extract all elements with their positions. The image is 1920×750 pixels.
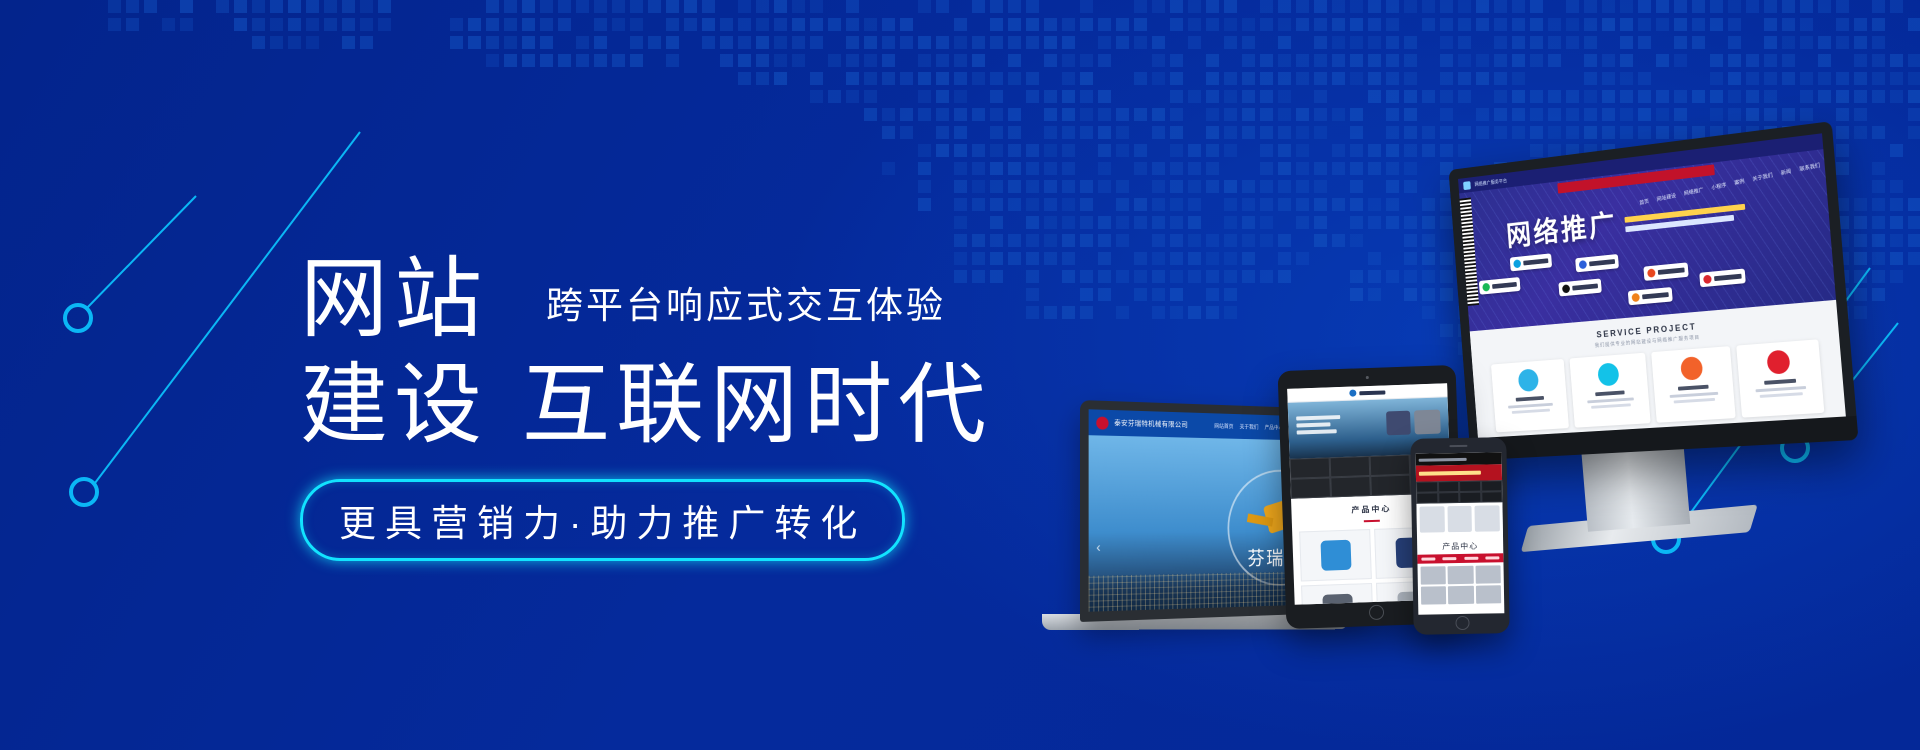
- partner-logo-icon: [1562, 284, 1570, 293]
- headline-main-2b: 互联网时代: [522, 355, 992, 454]
- service-card: [1651, 346, 1736, 423]
- phone-feature-row: [1416, 502, 1503, 535]
- monitor-nav-item: 首页: [1639, 197, 1650, 206]
- service-card-label: [1677, 385, 1708, 391]
- monitor-hero-slogan: [1624, 204, 1746, 232]
- monitor-nav-item: 案例: [1734, 177, 1745, 187]
- partner-badge: [1643, 262, 1688, 281]
- monitor-nav-item: 网站建设: [1656, 191, 1676, 203]
- headline-row-1: 网站 跨平台响应式交互体验: [300, 255, 1060, 343]
- device-mockup-cluster: 泰安芬瑞特机械有限公司 网站首页 关于我们 产品中心 新闻中心 客户案例 联系我…: [1060, 120, 1900, 680]
- monitor-nav-item: 小程序: [1711, 181, 1727, 192]
- monitor-hero-headline: 网络推广: [1505, 201, 1619, 254]
- monitor-nav-item: 网络推广: [1684, 185, 1705, 197]
- service-card-icon: [1597, 362, 1619, 386]
- phone-screen: 产品中心: [1416, 452, 1505, 614]
- monitor-body: 网络推广服务平台 首页 网站建设 网络推广 小程序 案例 关于我们 新闻 联系我…: [1448, 121, 1858, 460]
- laptop-nav-item: 关于我们: [1240, 423, 1259, 431]
- tablet-logo-icon: [1349, 389, 1356, 396]
- partner-badge-label: [1642, 292, 1669, 299]
- service-card-text: [1755, 386, 1806, 392]
- partner-logo-icon: [1513, 259, 1521, 268]
- partner-badge: [1510, 253, 1552, 271]
- phone-home-button[interactable]: [1455, 616, 1469, 630]
- tablet-home-button[interactable]: [1368, 605, 1384, 621]
- service-card-text: [1669, 392, 1718, 398]
- monitor-hero-section: 网络推广服务平台 首页 网站建设 网络推广 小程序 案例 关于我们 新闻 联系我…: [1458, 133, 1836, 331]
- partner-badge: [1628, 287, 1673, 305]
- monitor-topbar: 网络推广服务平台: [1458, 133, 1823, 193]
- service-card-text: [1587, 397, 1634, 403]
- service-card-label: [1764, 379, 1796, 385]
- partner-badge: [1558, 278, 1601, 296]
- partner-badge-label: [1658, 267, 1685, 274]
- partner-badge-label: [1492, 282, 1517, 289]
- partner-badge: [1699, 269, 1746, 288]
- headline-row-2: 建设互联网时代: [300, 361, 1060, 449]
- service-card: [1491, 359, 1569, 432]
- service-card-text: [1759, 392, 1802, 398]
- tablet-product-cell: [1301, 583, 1374, 605]
- partner-badge: [1575, 254, 1619, 272]
- service-card: [1736, 339, 1824, 417]
- tablet-site-title-bar: [1359, 390, 1385, 395]
- service-card: [1569, 353, 1650, 428]
- partner-logo-icon: [1703, 275, 1712, 284]
- service-card-icon: [1517, 368, 1539, 392]
- phone-promo-banner: [1416, 464, 1502, 481]
- service-card-label: [1515, 396, 1543, 402]
- tablet-product-cell: [1299, 529, 1372, 581]
- partner-badge-label: [1589, 259, 1615, 266]
- monitor-nav-item: 联系我们: [1799, 161, 1821, 173]
- qr-code-sidebar: [1458, 198, 1479, 307]
- phone-section-title: 产品中心: [1417, 534, 1503, 554]
- service-card-text: [1508, 403, 1553, 409]
- tablet-hero-caption: [1296, 415, 1341, 438]
- service-card-label: [1595, 390, 1625, 396]
- laptop-site-title: 泰安芬瑞特机械有限公司: [1114, 418, 1188, 430]
- laptop-nav-item: 网站首页: [1214, 422, 1233, 430]
- partner-badge-label: [1572, 283, 1598, 290]
- partner-logo-icon: [1631, 293, 1640, 302]
- laptop-logo-icon: [1096, 416, 1108, 429]
- phone-speaker-icon: [1449, 445, 1467, 447]
- phone-nav-grid[interactable]: [1416, 480, 1502, 503]
- service-card-icon: [1680, 356, 1703, 381]
- tablet-camera-icon: [1365, 376, 1368, 379]
- partner-badge-label: [1714, 274, 1742, 281]
- headline-main-2a: 建设: [300, 355, 488, 454]
- service-card-text: [1673, 398, 1714, 404]
- partner-badge-label: [1523, 258, 1548, 265]
- service-card-text: [1511, 409, 1549, 414]
- carousel-prev-icon: ‹: [1096, 539, 1100, 555]
- monitor-nav-item: 关于我们: [1752, 171, 1773, 183]
- product-thumbnail: [1320, 540, 1351, 571]
- monitor-topbar-title: 网络推广服务平台: [1474, 177, 1507, 187]
- marketing-badge: 更具营销力·助力推广转化: [300, 479, 905, 561]
- service-card-icon: [1766, 350, 1790, 375]
- headline-subtitle: 跨平台响应式交互体验: [546, 275, 946, 343]
- service-card-text: [1591, 403, 1631, 408]
- phone-product-thumbs: [1417, 562, 1504, 607]
- partner-logo-icon: [1579, 260, 1587, 269]
- phone-mockup: 产品中心: [1410, 437, 1509, 635]
- tablet-hero-product-b: [1414, 410, 1441, 435]
- product-thumbnail: [1322, 594, 1353, 605]
- hero-banner: 网站 跨平台响应式交互体验 建设互联网时代 更具营销力·助力推广转化 泰安芬瑞特…: [0, 0, 1920, 750]
- monitor-screen: 网络推广服务平台 首页 网站建设 网络推广 小程序 案例 关于我们 新闻 联系我…: [1458, 133, 1846, 438]
- tablet-hero-product-a: [1386, 411, 1411, 436]
- headline-main-1: 网站: [300, 255, 488, 343]
- partner-logo-icon: [1482, 283, 1490, 292]
- monitor-logo-icon: [1463, 181, 1471, 190]
- monitor-nav-item: 新闻: [1781, 167, 1792, 177]
- hero-copy: 网站 跨平台响应式交互体验 建设互联网时代 更具营销力·助力推广转化: [300, 255, 1060, 561]
- partner-logo-icon: [1647, 268, 1656, 277]
- partner-badge: [1479, 277, 1521, 295]
